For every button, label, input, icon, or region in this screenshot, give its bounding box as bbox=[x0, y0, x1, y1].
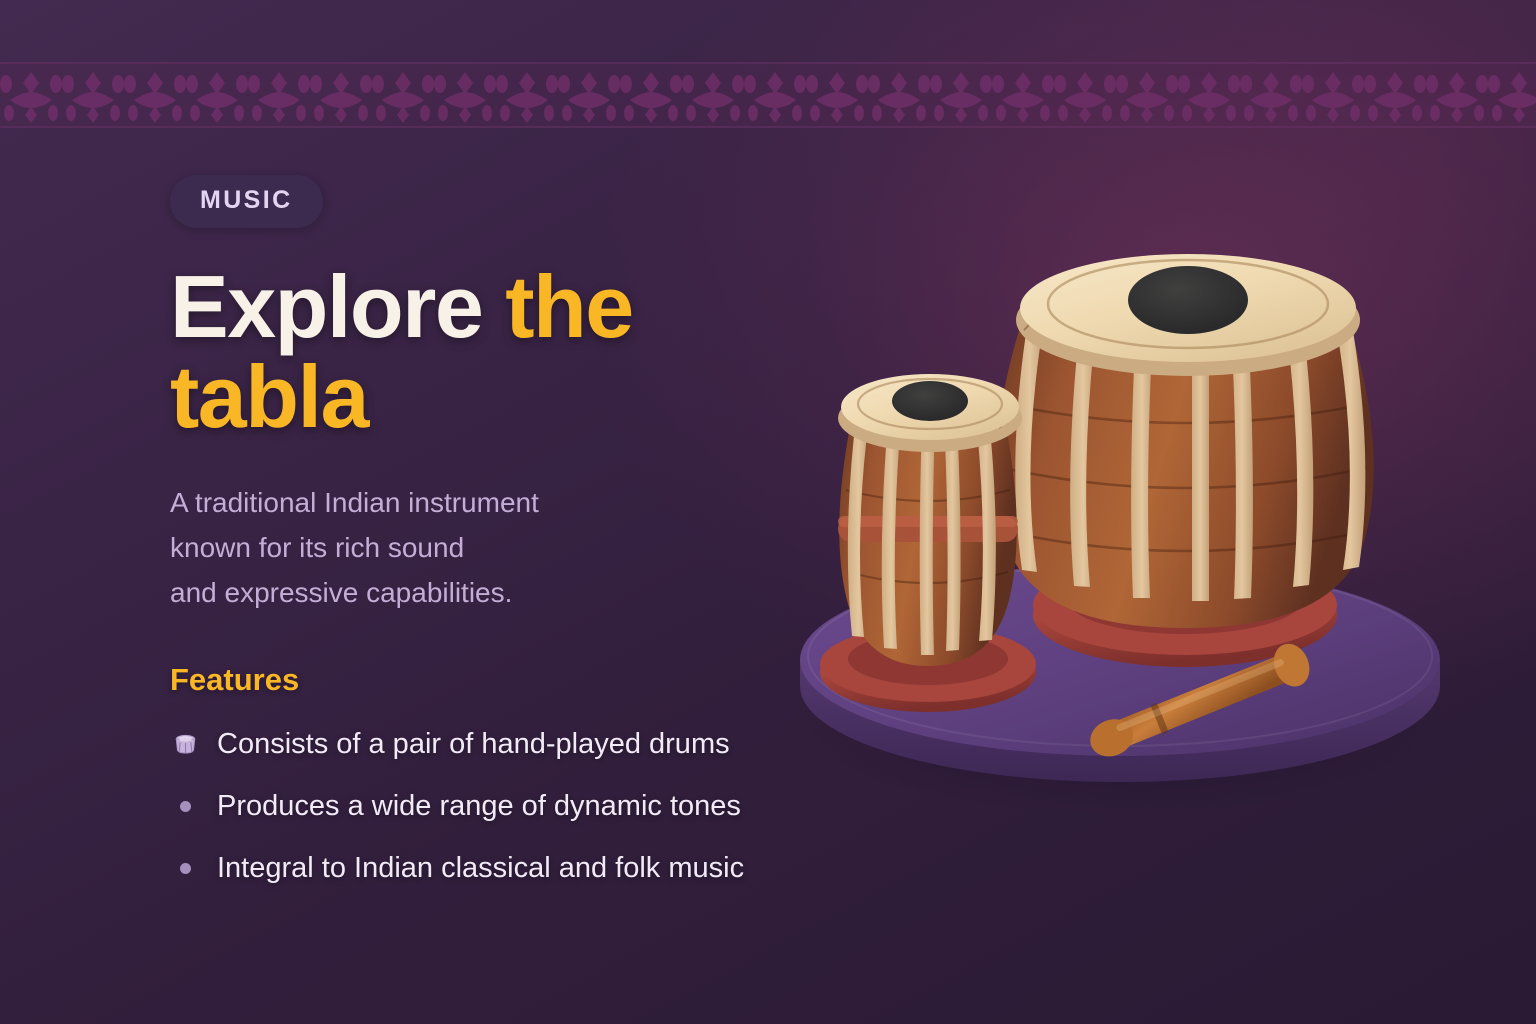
syahi-center-large bbox=[1128, 266, 1248, 334]
ornament-motif bbox=[0, 66, 62, 128]
ornament-motif bbox=[434, 66, 496, 128]
bayan-large-drum bbox=[996, 254, 1373, 628]
feature-text: Consists of a pair of hand-played drums bbox=[217, 728, 730, 761]
ornament-motif bbox=[1116, 66, 1178, 128]
ornament-motif bbox=[496, 66, 558, 128]
tabla-pair-illustration bbox=[760, 200, 1460, 820]
title-plain-part: Explore bbox=[170, 257, 505, 356]
subtitle-line-1: A traditional Indian instrument bbox=[170, 487, 539, 518]
ornament-motif bbox=[1426, 66, 1488, 128]
ornament-motif bbox=[558, 66, 620, 128]
page-title: Explore the tabla bbox=[170, 262, 730, 442]
top-ornament-border bbox=[0, 62, 1536, 128]
syahi-center-small bbox=[892, 381, 968, 421]
ornament-motif-row bbox=[0, 64, 1536, 128]
category-badge[interactable]: MUSIC bbox=[170, 175, 323, 228]
ornament-motif bbox=[248, 66, 310, 128]
ornament-motif bbox=[124, 66, 186, 128]
ornament-motif bbox=[868, 66, 930, 128]
bullet-dot-icon bbox=[170, 863, 200, 874]
ornament-motif bbox=[1054, 66, 1116, 128]
ornament-motif bbox=[310, 66, 372, 128]
ornament-motif bbox=[186, 66, 248, 128]
drum-icon bbox=[170, 731, 200, 758]
feature-text: Produces a wide range of dynamic tones bbox=[217, 790, 741, 823]
feature-text: Integral to Indian classical and folk mu… bbox=[217, 852, 744, 885]
ornament-motif bbox=[1488, 66, 1536, 128]
title-accent-the: the bbox=[505, 257, 633, 356]
bullet-dot-icon bbox=[170, 801, 200, 812]
ornament-motif bbox=[930, 66, 992, 128]
dayan-small-drum bbox=[838, 374, 1022, 666]
ornament-motif bbox=[744, 66, 806, 128]
ornament-motif bbox=[1178, 66, 1240, 128]
ornament-motif bbox=[372, 66, 434, 128]
title-accent-tabla: tabla bbox=[170, 347, 368, 446]
ornament-motif bbox=[620, 66, 682, 128]
ornament-motif bbox=[1240, 66, 1302, 128]
list-item: Integral to Indian classical and folk mu… bbox=[170, 852, 870, 885]
subtitle-line-2: known for its rich sound bbox=[170, 532, 464, 563]
ornament-motif bbox=[992, 66, 1054, 128]
subtitle-line-3: and expressive capabilities. bbox=[170, 577, 512, 608]
ornament-motif bbox=[682, 66, 744, 128]
ornament-motif bbox=[1364, 66, 1426, 128]
ornament-motif bbox=[806, 66, 868, 128]
ornament-motif bbox=[62, 66, 124, 128]
poster-canvas: MUSIC Explore the tabla A traditional In… bbox=[0, 0, 1536, 1024]
ornament-motif bbox=[1302, 66, 1364, 128]
